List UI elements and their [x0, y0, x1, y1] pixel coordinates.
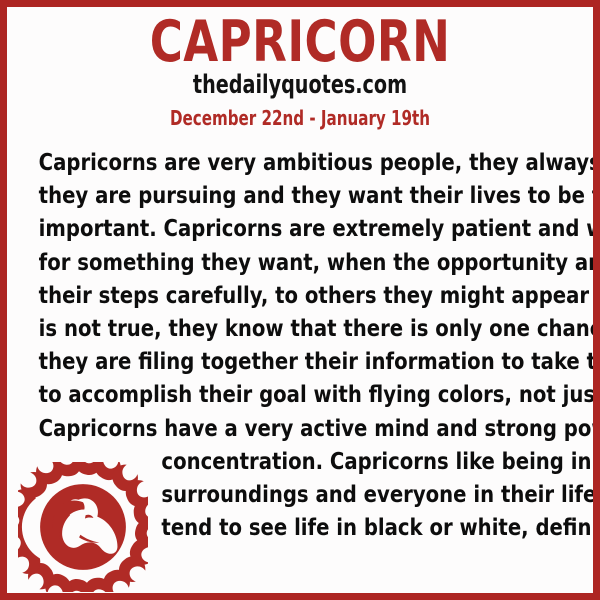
capricorn-zodiac-card: CAPRICORN thedailyquotes.com December 22… — [0, 0, 600, 600]
description-line: to accomplish their goal with flying col… — [39, 378, 562, 411]
description-line: important. Capricorns are extremely pati… — [39, 212, 562, 245]
description-line: Capricorns have a very active mind and s… — [39, 412, 562, 445]
description-line: is not true, they know that there is onl… — [39, 312, 562, 345]
capricorn-goat-emblem — [18, 462, 148, 592]
page-title: CAPRICORN — [42, 13, 558, 71]
description-line: for something they want, when the opport… — [39, 246, 562, 279]
description-line: their steps carefully, to others they mi… — [39, 279, 562, 312]
card-header: CAPRICORN thedailyquotes.com December 22… — [7, 7, 593, 130]
description-line: Capricorns are very ambitious people, th… — [39, 146, 562, 179]
description-line: they are pursuing and they want their li… — [39, 179, 562, 212]
site-url-label: thedailyquotes.com — [60, 71, 541, 100]
description-line: they are filing together their informati… — [39, 345, 562, 378]
date-range-label: December 22nd - January 19th — [54, 106, 546, 130]
